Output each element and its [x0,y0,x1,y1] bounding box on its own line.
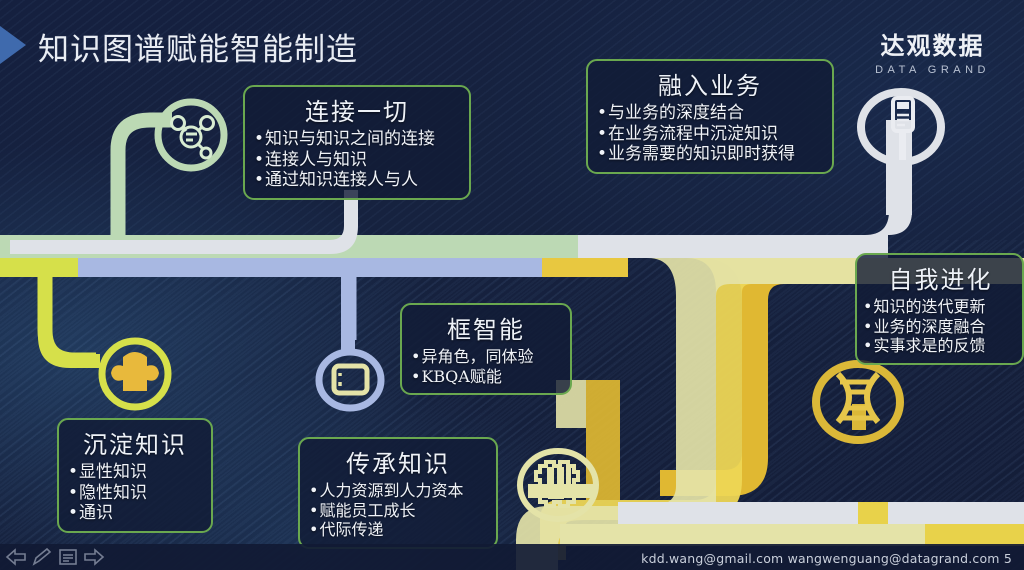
gear-factory-icon [510,442,606,528]
handheld-scanner-icon [845,82,957,172]
presentation-nav-controls[interactable] [4,544,106,570]
callout-bullets: 与业务的深度结合 在业务流程中沉淀知识 业务需要的知识即时获得 [597,103,823,165]
prev-arrow-icon[interactable] [4,547,28,567]
brand-name-cn: 达观数据 [875,26,990,61]
callout-frame[interactable]: 框智能 异角色，同体验 KBQA赋能 [400,303,572,395]
callout-evolve[interactable]: 自我进化 知识的迭代更新 业务的深度融合 实事求是的反馈 [855,253,1024,365]
callout-precipitate[interactable]: 沉淀知识 显性知识 隐性知识 通识 [57,418,213,533]
list-item: 代际传递 [309,520,487,540]
callout-title: 融入业务 [597,66,823,101]
list-item: 知识的迭代更新 [863,297,1018,317]
callout-bullets: 知识与知识之间的连接 连接人与知识 通过知识连接人与人 [254,129,460,191]
list-item: 连接人与知识 [254,150,460,171]
puzzle-piece-icon [93,333,177,415]
callout-bullets: 人力资源到人力资本 赋能员工成长 代际传递 [309,481,487,540]
callout-bullets: 显性知识 隐性知识 通识 [68,462,202,524]
node-embed[interactable] [845,82,957,177]
pen-icon[interactable] [30,547,54,567]
list-item: 知识与知识之间的连接 [254,129,460,150]
callout-bullets: 异角色，同体验 KBQA赋能 [411,347,561,386]
triangle-right-icon [0,26,26,64]
knowledge-graph-node-icon [152,96,230,174]
notes-icon[interactable] [56,547,80,567]
list-item: 赋能员工成长 [309,501,487,521]
callout-embed[interactable]: 融入业务 与业务的深度结合 在业务流程中沉淀知识 业务需要的知识即时获得 [586,59,834,174]
presentation-slide: 知识图谱赋能智能制造 达观数据 DATA GRAND 连接一切 知识与知识之间的… [0,0,1024,570]
brand-logo: 达观数据 DATA GRAND [875,26,990,76]
callout-title: 连接一切 [254,92,460,127]
footer-contact-text: kdd.wang@gmail.com wangwenguang@datagran… [641,551,1012,566]
callout-title: 沉淀知识 [68,425,202,460]
callout-title: 传承知识 [309,444,487,479]
slide-footer: kdd.wang@gmail.com wangwenguang@datagran… [0,544,1024,570]
list-item: 通过知识连接人与人 [254,170,460,191]
list-item: 在业务流程中沉淀知识 [597,124,823,145]
list-item: 人力资源到人力资本 [309,481,487,501]
callout-inherit[interactable]: 传承知识 人力资源到人力资本 赋能员工成长 代际传递 [298,437,498,549]
list-item: 实事求是的反馈 [863,336,1018,356]
node-connect[interactable] [152,96,230,179]
brand-name-en: DATA GRAND [875,64,990,76]
node-inherit[interactable] [510,442,606,533]
next-arrow-icon[interactable] [82,547,106,567]
callout-connect[interactable]: 连接一切 知识与知识之间的连接 连接人与知识 通过知识连接人与人 [243,85,471,200]
list-item: 显性知识 [68,462,202,483]
list-item: 通识 [68,503,202,524]
list-item: 业务需要的知识即时获得 [597,144,823,165]
node-precipitate[interactable] [93,333,177,420]
page-title: 知识图谱赋能智能制造 [38,24,358,69]
list-item: 异角色，同体验 [411,347,561,367]
callout-title: 框智能 [411,310,561,345]
callout-title: 自我进化 [863,260,1018,295]
callout-bullets: 知识的迭代更新 业务的深度融合 实事求是的反馈 [863,297,1018,356]
list-item: KBQA赋能 [411,367,561,387]
list-item: 业务的深度融合 [863,317,1018,337]
search-box-icon [310,342,390,414]
list-item: 隐性知识 [68,483,202,504]
list-item: 与业务的深度结合 [597,103,823,124]
node-frame[interactable] [310,342,390,419]
